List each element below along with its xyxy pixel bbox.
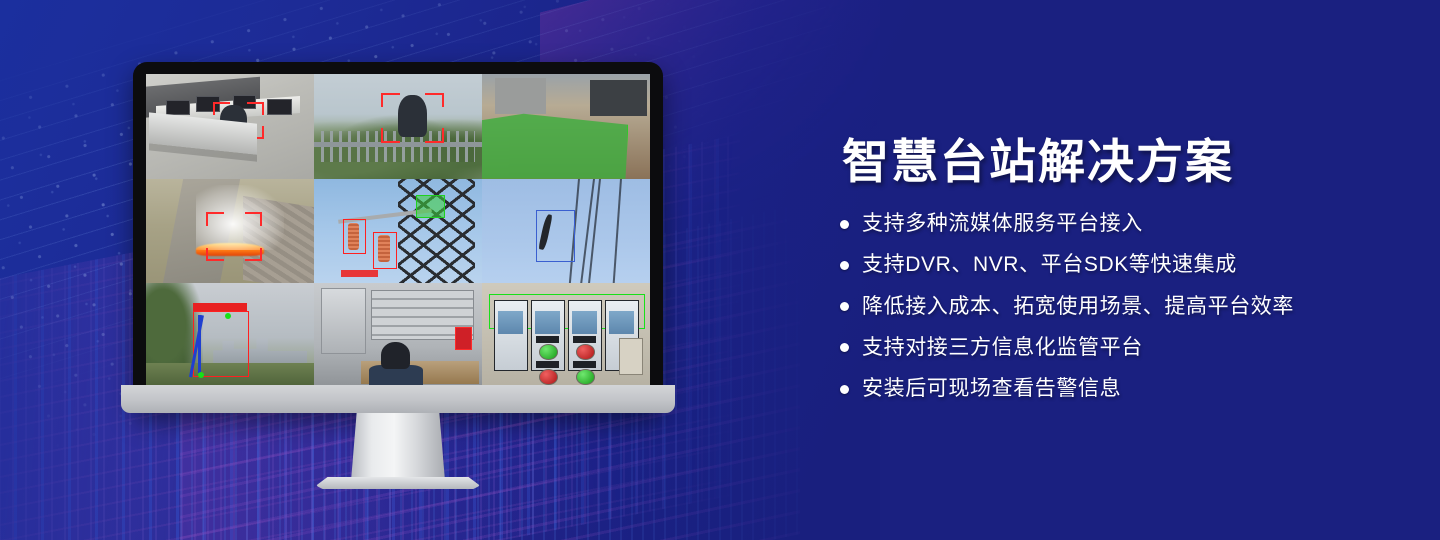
detection-box-blue bbox=[536, 210, 575, 262]
feature-text: 支持DVR、NVR、平台SDK等快速集成 bbox=[862, 252, 1237, 278]
feature-text: 降低接入成本、拓宽使用场景、提高平台效率 bbox=[862, 294, 1294, 320]
page-title: 智慧台站解决方案 bbox=[842, 138, 1400, 185]
detection-bracket bbox=[425, 93, 444, 108]
detection-box-red bbox=[343, 219, 367, 253]
feature-text: 安装后可现场查看告警信息 bbox=[862, 376, 1121, 402]
list-item: 安装后可现场查看告警信息 bbox=[840, 376, 1400, 402]
list-item: 支持多种流媒体服务平台接入 bbox=[840, 211, 1400, 237]
surveillance-grid bbox=[146, 74, 650, 388]
detection-bracket bbox=[206, 248, 223, 262]
detection-bracket bbox=[206, 212, 223, 226]
video-cell-yard-area[interactable] bbox=[482, 74, 650, 179]
detection-box-red bbox=[373, 232, 397, 269]
monitor-stand-base bbox=[316, 477, 480, 489]
detection-zone-green bbox=[482, 110, 628, 179]
feature-list: 支持多种流媒体服务平台接入 支持DVR、NVR、平台SDK等快速集成 降低接入成… bbox=[840, 211, 1400, 402]
bullet-dot-icon bbox=[840, 302, 849, 311]
bullet-dot-icon bbox=[840, 220, 849, 229]
monitor-stand-neck bbox=[351, 413, 445, 481]
video-cell-indoor-room[interactable] bbox=[314, 283, 482, 388]
detection-zone-green bbox=[416, 195, 445, 218]
monitor-chin bbox=[121, 385, 675, 413]
detection-bracket bbox=[245, 212, 262, 226]
alarm-label-bar bbox=[193, 303, 247, 310]
detection-bracket bbox=[381, 128, 400, 143]
banner-content: 智慧台站解决方案 支持多种流媒体服务平台接入 支持DVR、NVR、平台SDK等快… bbox=[840, 138, 1400, 417]
feature-text: 支持多种流媒体服务平台接入 bbox=[862, 211, 1143, 237]
detection-bracket bbox=[425, 128, 444, 143]
bullet-dot-icon bbox=[840, 385, 849, 394]
feature-text: 支持对接三方信息化监管平台 bbox=[862, 335, 1143, 361]
detection-bracket bbox=[245, 248, 262, 262]
list-item: 支持DVR、NVR、平台SDK等快速集成 bbox=[840, 252, 1400, 278]
video-cell-control-room[interactable] bbox=[146, 74, 314, 179]
list-item: 支持对接三方信息化监管平台 bbox=[840, 335, 1400, 361]
video-cell-fence-intrusion[interactable] bbox=[314, 74, 482, 179]
bullet-dot-icon bbox=[840, 343, 849, 352]
detection-bracket bbox=[247, 102, 264, 114]
video-cell-tower-insulators[interactable] bbox=[314, 179, 482, 284]
detection-bracket bbox=[213, 102, 230, 114]
video-cell-power-line[interactable] bbox=[482, 179, 650, 284]
detection-bracket bbox=[213, 126, 230, 138]
detection-box-red bbox=[455, 327, 472, 350]
bullet-dot-icon bbox=[840, 261, 849, 270]
detection-bracket bbox=[381, 93, 400, 108]
list-item: 降低接入成本、拓宽使用场景、提高平台效率 bbox=[840, 294, 1400, 320]
video-cell-control-panel[interactable] bbox=[482, 283, 650, 388]
desktop-monitor bbox=[133, 62, 663, 412]
video-cell-pole-tilt[interactable] bbox=[146, 283, 314, 388]
detection-bracket bbox=[247, 126, 264, 138]
solution-banner: 智慧台站解决方案 支持多种流媒体服务平台接入 支持DVR、NVR、平台SDK等快… bbox=[0, 0, 1440, 540]
video-cell-fire-smoke[interactable] bbox=[146, 179, 314, 284]
